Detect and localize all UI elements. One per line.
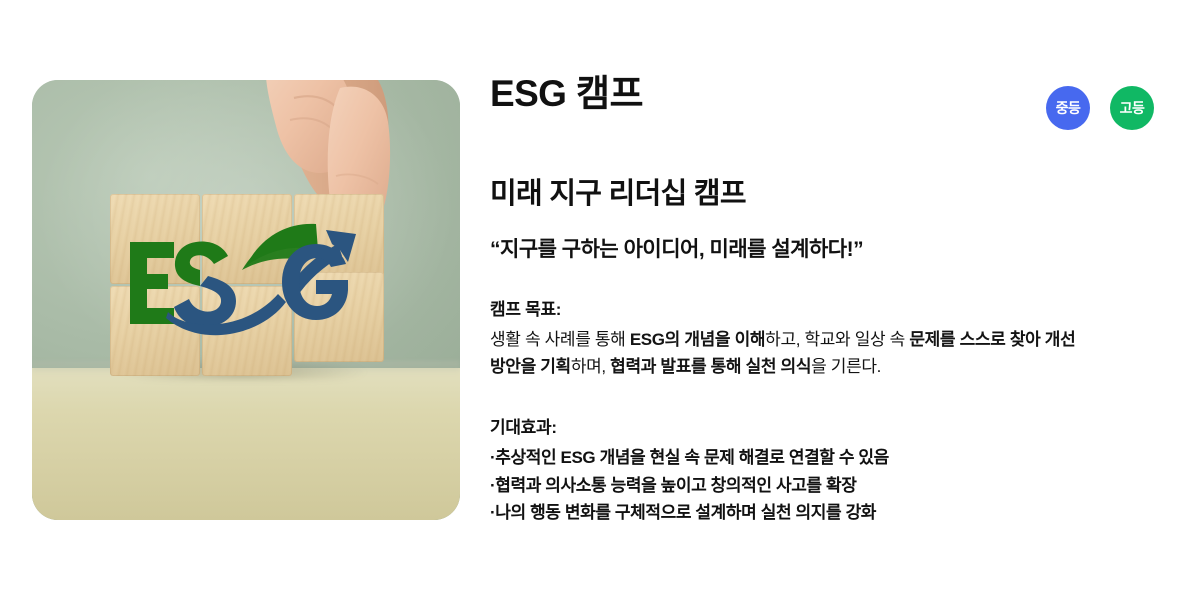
goal-seg-1: 생활 속 사례를 통해 xyxy=(490,330,630,349)
list-item: ·협력과 의사소통 능력을 높이고 창의적인 사고를 확장 xyxy=(490,472,1090,500)
badge-middle-school[interactable]: 중등 xyxy=(1046,86,1090,130)
goal-seg-4: 문제를 스스로 찾아 xyxy=(909,330,1040,349)
esg-camp-card: ESG 캠프 미래 지구 리더십 캠프 “지구를 구하는 아이디어, 미래를 설… xyxy=(0,0,1200,600)
wooden-blocks-group xyxy=(110,194,384,376)
wood-block-top-middle xyxy=(202,194,292,284)
photo-desk-surface xyxy=(32,368,460,520)
camp-effects-section: 기대효과: ·추상적인 ESG 개념을 현실 속 문제 해결로 연결할 수 있음… xyxy=(490,413,1090,527)
wood-block-bottom-left xyxy=(110,286,200,376)
goal-seg-7: 협력과 발표를 통해 실천 의식 xyxy=(610,357,811,376)
page-title: ESG 캠프 xyxy=(490,74,1090,114)
wood-block-bottom-middle xyxy=(202,286,292,376)
camp-goal-section: 캠프 목표: 생활 속 사례를 통해 ESG의 개념을 이해하고, 학교와 일상… xyxy=(490,295,1090,381)
badge-high-school[interactable]: 고등 xyxy=(1110,86,1154,130)
list-item: ·나의 행동 변화를 구체적으로 설계하며 실천 의지를 강화 xyxy=(490,499,1090,527)
camp-effects-heading: 기대효과: xyxy=(490,413,1090,438)
wood-block-bottom-right xyxy=(294,272,384,362)
camp-text-column: ESG 캠프 미래 지구 리더십 캠프 “지구를 구하는 아이디어, 미래를 설… xyxy=(490,74,1090,527)
goal-seg-2: ESG의 개념을 이해 xyxy=(630,330,765,349)
grade-badges: 중등 고등 xyxy=(1046,86,1154,130)
goal-seg-8: 을 기른다. xyxy=(811,357,881,376)
camp-tagline: “지구를 구하는 아이디어, 미래를 설계하다!” xyxy=(490,233,1090,263)
camp-goal-heading: 캠프 목표: xyxy=(490,295,1090,320)
goal-seg-3: 하고, 학교와 일상 속 xyxy=(765,330,909,349)
camp-subtitle: 미래 지구 리더십 캠프 xyxy=(490,170,1090,212)
goal-seg-6: 하며, xyxy=(571,357,610,376)
wood-block-top-right xyxy=(294,194,384,284)
camp-effects-list: ·추상적인 ESG 개념을 현실 속 문제 해결로 연결할 수 있음 ·협력과 … xyxy=(490,444,1090,527)
wood-block-top-left xyxy=(110,194,200,284)
list-item: ·추상적인 ESG 개념을 현실 속 문제 해결로 연결할 수 있음 xyxy=(490,444,1090,472)
camp-goal-text: 생활 속 사례를 통해 ESG의 개념을 이해하고, 학교와 일상 속 문제를 … xyxy=(490,326,1090,381)
camp-photo-card xyxy=(32,80,460,520)
